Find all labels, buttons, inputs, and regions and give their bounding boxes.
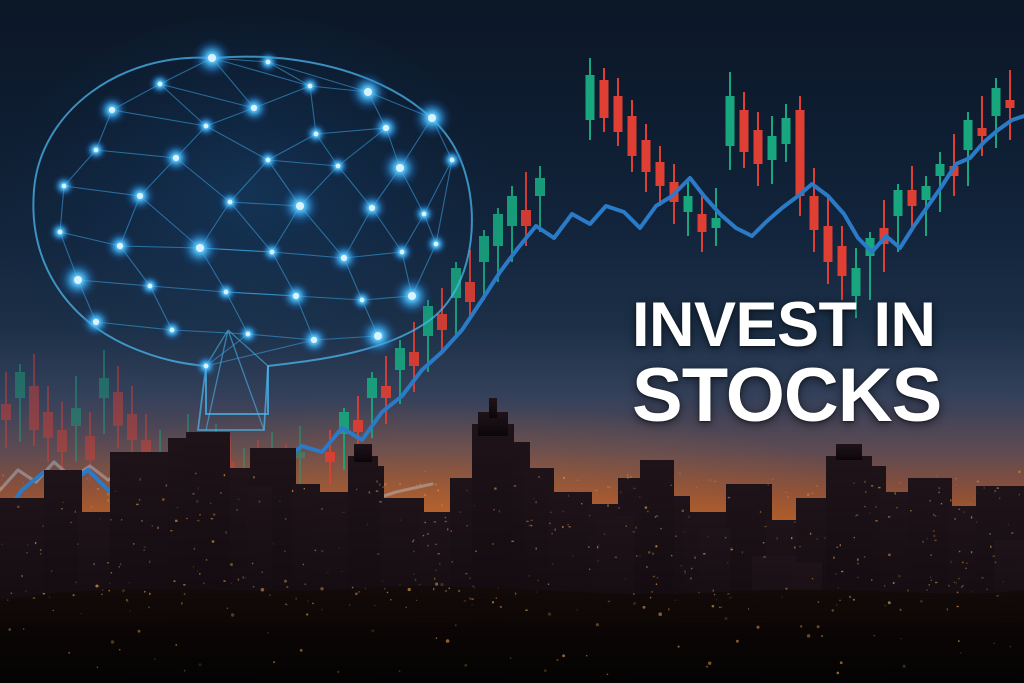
window-light — [273, 543, 274, 544]
window-light — [152, 525, 153, 526]
window-light — [576, 609, 577, 610]
window-light — [875, 506, 876, 507]
window-light — [458, 590, 459, 592]
window-light — [657, 577, 658, 578]
window-light — [465, 573, 467, 574]
window-light — [688, 516, 690, 518]
window-light — [933, 530, 934, 531]
window-light — [425, 494, 426, 496]
window-light — [40, 549, 41, 550]
window-light — [107, 493, 109, 495]
window-light — [425, 522, 426, 523]
street-light — [445, 590, 447, 592]
window-light — [107, 562, 108, 563]
window-light — [420, 484, 421, 486]
window-light — [627, 474, 628, 475]
street-light — [440, 583, 443, 586]
window-light — [888, 554, 890, 556]
window-light — [825, 537, 826, 538]
window-light — [148, 607, 149, 608]
street-light — [736, 640, 739, 643]
window-light — [607, 505, 608, 507]
window-light — [840, 544, 841, 546]
window-light — [213, 514, 215, 516]
window-light — [439, 563, 440, 565]
street-light — [957, 591, 959, 593]
window-light — [963, 511, 964, 513]
window-light — [382, 487, 383, 488]
street-light — [23, 628, 24, 629]
window-light — [878, 487, 880, 488]
window-light — [785, 492, 787, 493]
window-light — [494, 488, 496, 490]
window-light — [589, 569, 590, 570]
window-light — [496, 597, 497, 598]
window-light — [197, 571, 198, 572]
window-light — [930, 500, 931, 501]
window-light — [549, 523, 550, 524]
street-light — [817, 625, 820, 628]
window-light — [91, 506, 92, 507]
window-light — [170, 530, 172, 531]
window-light — [763, 556, 765, 558]
window-light — [1, 544, 2, 545]
window-light — [938, 492, 939, 493]
window-light — [269, 594, 270, 595]
window-light — [427, 545, 428, 546]
window-light — [27, 544, 28, 545]
window-light — [888, 516, 890, 517]
window-light — [492, 543, 493, 544]
window-light — [322, 609, 323, 610]
window-light — [597, 546, 598, 548]
window-light — [948, 585, 949, 587]
window-light — [954, 582, 955, 583]
window-light — [43, 593, 45, 594]
window-light — [223, 580, 225, 581]
window-light — [708, 536, 709, 537]
window-light — [177, 507, 178, 508]
window-light — [296, 598, 297, 600]
window-light — [115, 491, 116, 492]
window-light — [716, 599, 717, 600]
window-light — [608, 601, 610, 602]
window-light — [604, 534, 605, 535]
street-light — [840, 661, 843, 664]
street-light — [958, 640, 960, 642]
window-light — [959, 551, 960, 552]
street-light — [138, 630, 141, 633]
window-light — [385, 483, 386, 485]
window-light — [993, 556, 995, 557]
street-light — [8, 628, 11, 631]
window-light — [413, 551, 414, 552]
street-light — [884, 585, 885, 586]
window-light — [111, 572, 112, 573]
window-light — [175, 520, 177, 522]
street-light — [643, 606, 646, 609]
street-light — [97, 666, 98, 667]
window-light — [399, 483, 400, 485]
street-light — [52, 610, 53, 611]
window-light — [871, 579, 872, 580]
window-light — [424, 471, 425, 472]
street-light — [706, 665, 708, 667]
window-light — [97, 489, 99, 490]
window-light — [984, 487, 985, 489]
street-light — [95, 585, 98, 588]
window-light — [679, 473, 681, 474]
window-light — [961, 586, 962, 587]
window-light — [971, 551, 972, 553]
window-light — [376, 491, 378, 492]
street-light — [818, 601, 820, 603]
window-light — [141, 520, 142, 521]
window-light — [977, 481, 979, 482]
window-light — [936, 475, 937, 476]
window-light — [284, 551, 285, 552]
window-light — [130, 610, 131, 611]
window-light — [199, 573, 200, 574]
window-light — [656, 515, 658, 516]
window-light — [782, 596, 783, 597]
window-light — [285, 603, 286, 604]
window-light — [1008, 523, 1009, 525]
street-light — [714, 594, 715, 595]
window-light — [33, 597, 35, 598]
window-light — [768, 483, 769, 485]
window-light — [875, 520, 877, 521]
street-light — [231, 613, 234, 616]
window-light — [43, 526, 44, 527]
window-light — [935, 515, 936, 516]
window-light — [562, 526, 563, 528]
window-light — [680, 565, 682, 566]
window-light — [550, 512, 551, 513]
window-light — [536, 548, 537, 550]
window-light — [655, 546, 656, 547]
street-light — [175, 644, 177, 646]
window-light — [1011, 532, 1013, 533]
window-light — [555, 529, 556, 531]
street-light — [68, 652, 70, 654]
window-light — [406, 607, 407, 608]
window-light — [951, 561, 952, 563]
window-light — [934, 535, 935, 537]
window-light — [384, 588, 385, 589]
street-light — [349, 604, 350, 605]
window-light — [999, 497, 1000, 499]
window-light — [75, 511, 76, 513]
window-light — [133, 543, 134, 544]
window-light — [712, 605, 714, 607]
window-light — [466, 489, 467, 491]
street-light — [337, 671, 339, 673]
window-light — [144, 546, 146, 547]
window-light — [971, 516, 972, 518]
street-light — [408, 588, 411, 591]
window-light — [703, 553, 705, 554]
street-light — [119, 649, 121, 651]
window-light — [589, 515, 590, 516]
window-light — [181, 602, 182, 604]
street-light — [464, 664, 467, 667]
window-light — [957, 606, 959, 607]
window-light — [841, 571, 843, 572]
window-light — [471, 598, 473, 599]
window-light — [714, 481, 715, 482]
window-light — [871, 485, 873, 486]
window-light — [633, 488, 635, 489]
window-light — [86, 478, 87, 479]
window-light — [61, 508, 62, 509]
street-light — [544, 669, 547, 672]
window-light — [499, 510, 500, 512]
street-light — [371, 629, 374, 632]
window-light — [121, 519, 122, 520]
window-light — [460, 511, 461, 512]
window-light — [610, 486, 611, 488]
window-light — [898, 575, 900, 577]
window-light — [192, 493, 194, 494]
window-light — [447, 528, 448, 530]
window-light — [896, 507, 897, 508]
window-light — [996, 595, 998, 596]
window-light — [144, 549, 145, 550]
window-light — [713, 590, 714, 592]
window-light — [683, 531, 684, 532]
window-light — [342, 512, 344, 513]
window-light — [947, 608, 948, 610]
window-light — [423, 535, 424, 536]
window-light — [511, 541, 513, 542]
window-light — [259, 501, 260, 503]
window-light — [671, 485, 672, 486]
window-light — [493, 509, 494, 510]
window-light — [515, 593, 516, 595]
window-light — [230, 563, 232, 565]
street-light — [122, 589, 125, 592]
window-light — [552, 563, 553, 565]
window-light — [895, 492, 896, 494]
window-light — [569, 526, 571, 527]
window-light — [382, 580, 383, 582]
window-light — [581, 503, 582, 504]
window-light — [451, 530, 452, 531]
window-light — [376, 480, 377, 482]
street-light — [436, 637, 437, 638]
window-light — [538, 476, 539, 477]
street-light — [807, 634, 811, 638]
window-light — [760, 511, 761, 513]
window-light — [253, 586, 254, 587]
window-light — [339, 548, 340, 549]
street-light — [903, 665, 906, 668]
window-light — [304, 488, 305, 489]
window-light — [838, 587, 839, 588]
window-light — [427, 533, 429, 534]
window-light — [870, 512, 871, 513]
window-light — [764, 526, 766, 527]
window-light — [413, 539, 414, 540]
street-light — [320, 587, 323, 590]
window-light — [435, 570, 436, 571]
window-light — [927, 538, 928, 539]
street-light — [821, 635, 823, 637]
window-light — [930, 554, 931, 555]
street-light — [562, 654, 565, 657]
window-light — [849, 596, 850, 598]
window-light — [536, 591, 537, 592]
window-light — [865, 491, 866, 492]
window-light — [358, 591, 359, 592]
street-light — [748, 608, 749, 609]
window-light — [21, 575, 22, 577]
window-light — [639, 496, 640, 497]
window-light — [772, 479, 773, 480]
window-light — [139, 499, 140, 500]
window-light — [17, 506, 19, 508]
street-light — [994, 643, 995, 644]
window-light — [660, 528, 661, 529]
window-light — [243, 576, 244, 578]
window-light — [529, 575, 530, 576]
street-light — [173, 580, 175, 582]
window-light — [857, 577, 858, 578]
street-light — [596, 623, 599, 626]
window-light — [958, 578, 960, 579]
window-light — [526, 521, 528, 522]
window-light — [390, 599, 391, 600]
window-light — [837, 547, 838, 548]
window-light — [962, 585, 963, 586]
window-light — [210, 503, 211, 504]
window-light — [857, 563, 858, 565]
poster-canvas: INVEST IN STOCKS — [0, 0, 1024, 683]
street-light — [108, 590, 110, 592]
street-light — [184, 670, 186, 672]
window-light — [315, 550, 316, 551]
window-light — [956, 582, 957, 584]
window-light — [184, 593, 185, 594]
window-light — [120, 563, 121, 565]
window-light — [864, 506, 865, 507]
window-light — [955, 478, 956, 479]
window-light — [25, 591, 26, 592]
street-light — [306, 613, 308, 615]
window-light — [49, 596, 50, 597]
window-light — [995, 490, 996, 492]
window-light — [99, 518, 100, 519]
window-light — [471, 604, 472, 605]
window-light — [435, 544, 437, 545]
street-light — [300, 649, 303, 652]
window-light — [412, 541, 413, 542]
window-light — [367, 523, 368, 525]
window-light — [568, 495, 569, 497]
window-light — [220, 492, 221, 493]
window-light — [474, 505, 475, 506]
window-light — [183, 584, 185, 585]
window-light — [194, 548, 195, 550]
window-light — [651, 591, 652, 592]
window-light — [791, 537, 792, 539]
window-light — [374, 605, 375, 606]
window-light — [636, 555, 637, 556]
window-light — [698, 592, 699, 593]
window-light — [433, 588, 434, 590]
window-light — [630, 476, 631, 477]
window-light — [26, 552, 27, 553]
window-light — [938, 515, 939, 516]
window-light — [467, 525, 468, 526]
window-light — [1003, 581, 1004, 582]
window-light — [469, 578, 470, 579]
window-light — [627, 477, 628, 479]
street-light — [455, 624, 456, 625]
street-light — [832, 609, 835, 612]
window-light — [990, 546, 991, 548]
street-light — [284, 580, 287, 583]
window-light — [954, 518, 955, 520]
window-light — [438, 553, 440, 554]
window-light — [136, 504, 138, 505]
street-light — [510, 657, 512, 659]
window-light — [930, 577, 931, 578]
window-light — [1019, 494, 1020, 495]
window-light — [777, 537, 778, 539]
street-light — [920, 600, 923, 603]
window-light — [899, 482, 900, 483]
window-light — [252, 563, 253, 564]
window-light — [864, 481, 865, 483]
street-light — [75, 581, 77, 583]
street-light — [500, 606, 502, 608]
window-light — [1, 488, 2, 489]
window-light — [369, 491, 370, 493]
window-light — [696, 487, 697, 488]
window-light — [835, 573, 836, 574]
window-light — [970, 503, 971, 504]
window-light — [986, 589, 987, 590]
window-light — [400, 519, 401, 520]
window-light — [377, 553, 379, 554]
window-light — [212, 540, 214, 542]
street-light — [658, 612, 662, 616]
window-light — [742, 551, 743, 553]
window-light — [962, 562, 963, 563]
window-light — [195, 473, 196, 474]
window-light — [787, 496, 788, 497]
window-light — [110, 519, 111, 520]
window-light — [109, 583, 110, 584]
headline-line-2: STOCKS — [632, 361, 1002, 431]
window-light — [529, 525, 531, 526]
window-light — [305, 584, 306, 585]
window-light — [939, 487, 940, 489]
window-light — [966, 563, 967, 564]
window-light — [997, 487, 999, 488]
window-light — [682, 510, 684, 512]
window-light — [342, 571, 343, 572]
street-light — [633, 602, 636, 605]
street-light — [900, 638, 902, 640]
window-light — [434, 578, 435, 580]
window-light — [950, 499, 951, 501]
window-light — [211, 518, 213, 519]
street-light — [261, 588, 265, 592]
window-light — [839, 600, 840, 601]
